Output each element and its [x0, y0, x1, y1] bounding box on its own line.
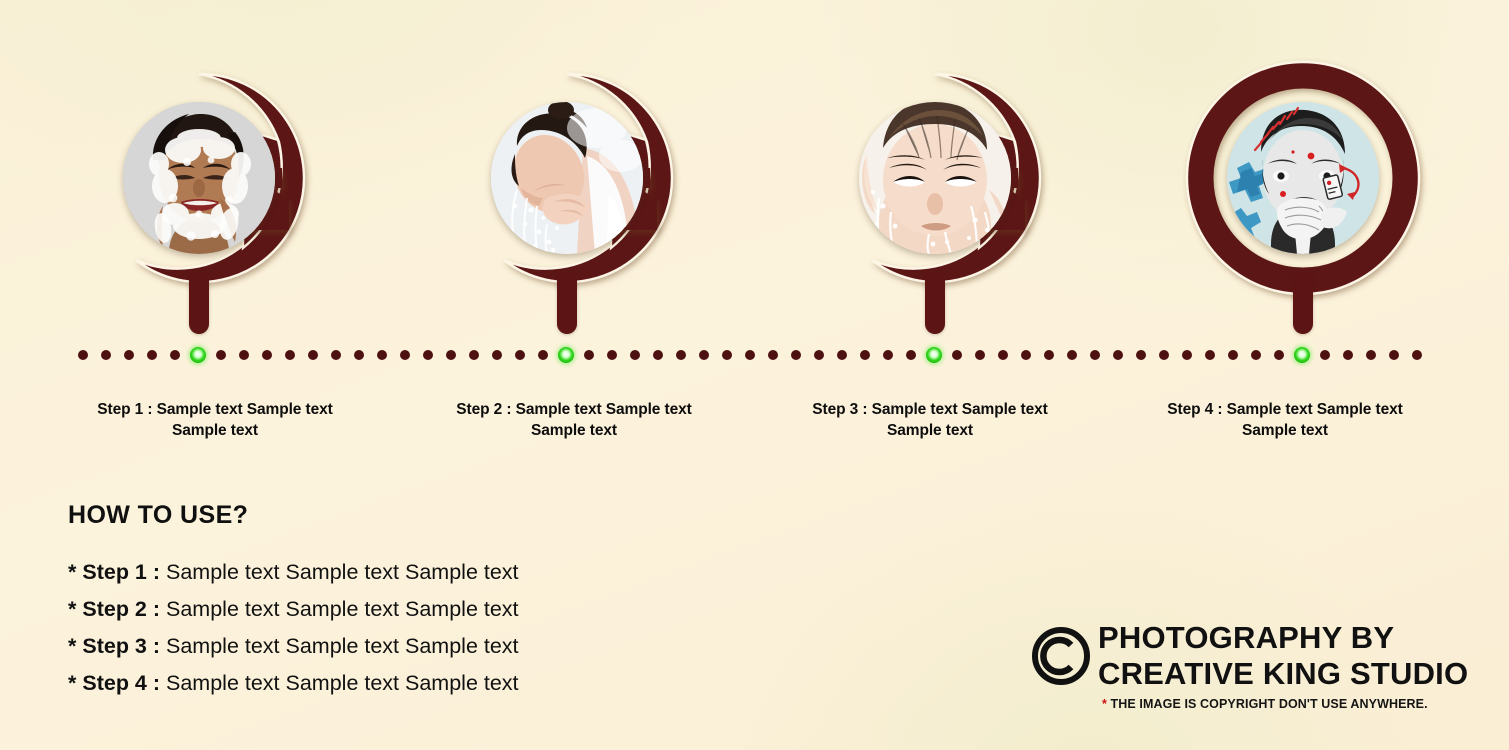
- row-1-text: Sample text Sample text Sample text: [166, 560, 519, 584]
- timeline-dot: [745, 350, 755, 360]
- timeline-dot: [331, 350, 341, 360]
- timeline-dot: [1090, 350, 1100, 360]
- step-node-2[interactable]: [461, 72, 673, 284]
- timeline-dot: [722, 350, 732, 360]
- watermark-line-2: CREATIVE KING STUDIO: [1098, 656, 1468, 692]
- watermark-line-1: PHOTOGRAPHY BY: [1098, 620, 1468, 656]
- step-caption-3-line2: Sample text: [887, 422, 973, 439]
- timeline-dot: [262, 350, 272, 360]
- step-caption-2: Step 2 : Sample text Sample text Sample …: [404, 400, 744, 441]
- timeline-dot: [1343, 350, 1353, 360]
- timeline-dot: [147, 350, 157, 360]
- timeline-dot: [239, 350, 249, 360]
- timeline-dot: [377, 350, 387, 360]
- how-to-use-row-1: * Step 1 : Sample text Sample text Sampl…: [68, 554, 768, 591]
- timeline-dot: [998, 350, 1008, 360]
- step-caption-1-line1: Step 1 : Sample text Sample text: [97, 401, 332, 418]
- bullet-1: *: [68, 560, 76, 584]
- timeline-dot: [1274, 350, 1284, 360]
- timeline-active-marker: [190, 347, 206, 363]
- watermark-text: PHOTOGRAPHY BY CREATIVE KING STUDIO: [1098, 620, 1468, 692]
- timeline-dot: [285, 350, 295, 360]
- step-stem-1: [189, 272, 209, 334]
- step-caption-2-line2: Sample text: [531, 422, 617, 439]
- row-1-step-label: Step 1 :: [82, 560, 160, 584]
- timeline-dot: [1412, 350, 1422, 360]
- timeline-dot: [469, 350, 479, 360]
- timeline-dot: [1159, 350, 1169, 360]
- timeline-dot: [860, 350, 870, 360]
- step-stem-2: [557, 272, 577, 334]
- timeline-dot: [1021, 350, 1031, 360]
- timeline-dot: [1366, 350, 1376, 360]
- step-stem-3: [925, 272, 945, 334]
- timeline-dot: [1182, 350, 1192, 360]
- timeline-active-marker: [558, 347, 574, 363]
- timeline-dot: [423, 350, 433, 360]
- step-photo-4: [1227, 102, 1379, 254]
- timeline-dot: [1205, 350, 1215, 360]
- timeline-active-marker: [926, 347, 942, 363]
- bullet-4: *: [68, 671, 76, 695]
- timeline-active-marker: [1294, 347, 1310, 363]
- step-stem-4: [1293, 272, 1313, 334]
- timeline-dot: [1320, 350, 1330, 360]
- timeline-dot: [584, 350, 594, 360]
- timeline-dot: [446, 350, 456, 360]
- watermark: PHOTOGRAPHY BY CREATIVE KING STUDIO * TH…: [1032, 614, 1502, 724]
- step-node-1[interactable]: [93, 72, 305, 284]
- timeline-dot: [653, 350, 663, 360]
- timeline-dot: [308, 350, 318, 360]
- how-to-use-row-2: * Step 2 : Sample text Sample text Sampl…: [68, 591, 768, 628]
- row-3-step-label: Step 3 :: [82, 634, 160, 658]
- timeline-dot: [952, 350, 962, 360]
- how-to-use-heading: HOW TO USE?: [68, 501, 248, 530]
- timeline-dot: [124, 350, 134, 360]
- step-node-4[interactable]: [1197, 72, 1409, 284]
- step-caption-4-line2: Sample text: [1242, 422, 1328, 439]
- row-2-text: Sample text Sample text Sample text: [166, 597, 519, 621]
- timeline-dot: [1067, 350, 1077, 360]
- timeline-dot: [791, 350, 801, 360]
- timeline-dot: [515, 350, 525, 360]
- timeline-dot: [676, 350, 686, 360]
- bullet-3: *: [68, 634, 76, 658]
- timeline-dot: [492, 350, 502, 360]
- timeline-dot: [906, 350, 916, 360]
- timeline-dot: [354, 350, 364, 360]
- watermark-note: * THE IMAGE IS COPYRIGHT DON'T USE ANYWH…: [1102, 697, 1428, 711]
- timeline-dot: [883, 350, 893, 360]
- how-to-use-row-4: * Step 4 : Sample text Sample text Sampl…: [68, 665, 768, 702]
- step-node-3[interactable]: [829, 72, 1041, 284]
- timeline-dot: [630, 350, 640, 360]
- step-caption-1-line2: Sample text: [172, 422, 258, 439]
- step-photo-2: [491, 102, 643, 254]
- timeline-dot: [400, 350, 410, 360]
- copyright-icon: [1032, 627, 1090, 685]
- bullet-2: *: [68, 597, 76, 621]
- row-4-step-label: Step 4 :: [82, 671, 160, 695]
- step-photo-1: [123, 102, 275, 254]
- step-caption-4-line1: Step 4 : Sample text Sample text: [1167, 401, 1402, 418]
- timeline-dot: [170, 350, 180, 360]
- step-photo-3: [859, 102, 1011, 254]
- row-2-step-label: Step 2 :: [82, 597, 160, 621]
- timeline-dot: [1251, 350, 1261, 360]
- timeline-dot: [101, 350, 111, 360]
- step-caption-1: Step 1 : Sample text Sample text Sample …: [45, 400, 385, 441]
- watermark-note-text: THE IMAGE IS COPYRIGHT DON'T USE ANYWHER…: [1107, 697, 1428, 711]
- timeline-dot: [538, 350, 548, 360]
- timeline-dot: [1113, 350, 1123, 360]
- timeline-dot: [1044, 350, 1054, 360]
- row-3-text: Sample text Sample text Sample text: [166, 634, 519, 658]
- timeline-dot: [814, 350, 824, 360]
- step-caption-3: Step 3 : Sample text Sample text Sample …: [760, 400, 1100, 441]
- step-caption-3-line1: Step 3 : Sample text Sample text: [812, 401, 1047, 418]
- step-caption-2-line1: Step 2 : Sample text Sample text: [456, 401, 691, 418]
- timeline-dot: [837, 350, 847, 360]
- timeline-dot: [216, 350, 226, 360]
- how-to-use-list: * Step 1 : Sample text Sample text Sampl…: [68, 554, 768, 702]
- timeline-dot: [768, 350, 778, 360]
- timeline-dot: [1389, 350, 1399, 360]
- row-4-text: Sample text Sample text Sample text: [166, 671, 519, 695]
- how-to-use-row-3: * Step 3 : Sample text Sample text Sampl…: [68, 628, 768, 665]
- timeline-dot: [1136, 350, 1146, 360]
- timeline-dot: [975, 350, 985, 360]
- timeline-dotted-line: [78, 348, 1431, 362]
- timeline-dot: [699, 350, 709, 360]
- timeline-dot: [1228, 350, 1238, 360]
- infographic-canvas: Step 1 : Sample text Sample text Sample …: [0, 0, 1509, 750]
- timeline-dot: [78, 350, 88, 360]
- timeline-dot: [607, 350, 617, 360]
- step-caption-4: Step 4 : Sample text Sample text Sample …: [1115, 400, 1455, 441]
